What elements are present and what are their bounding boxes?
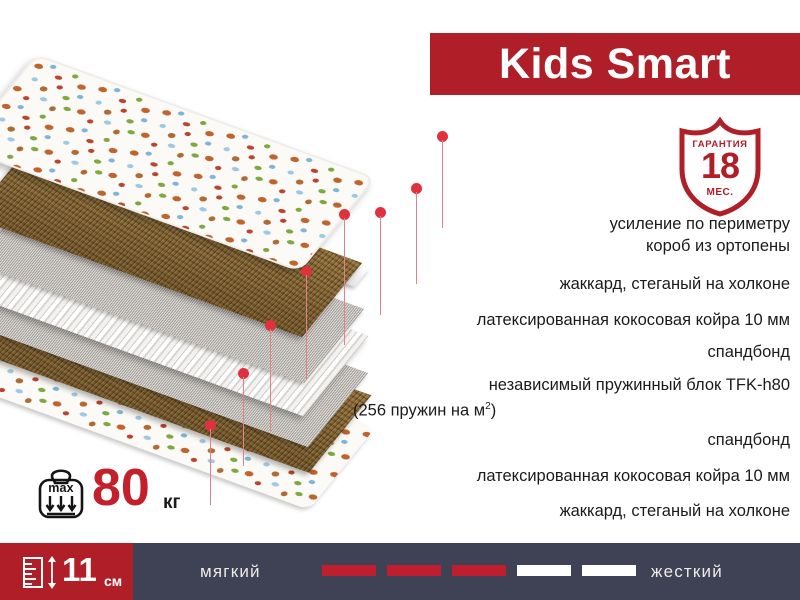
firmness-segment-5 <box>582 565 636 576</box>
firmness-segment-2 <box>387 565 441 576</box>
max-load-unit: кг <box>163 492 180 514</box>
height-arrow-icon <box>47 556 57 589</box>
leader-jacquard-bot <box>210 429 211 505</box>
max-load-value: 80 <box>92 462 150 514</box>
firmness-segment-4 <box>517 565 571 576</box>
max-load-icon-label: max <box>34 481 88 495</box>
label-coir-top: латексированная кокосовая койра 10 мм <box>330 310 790 331</box>
firmness-soft-label: мягкий <box>200 562 261 582</box>
leader-spring-block <box>306 275 307 379</box>
warranty-badge: ГАРАНТИЯ 18 МЕС. <box>672 117 768 217</box>
leader-spunbond-bot <box>270 329 271 431</box>
infographic-canvas: Kids Smart ГАРАНТИЯ 18 МЕС. <box>0 0 800 600</box>
label-jacquard-bottom: жаккард, стеганый на холконе <box>330 501 790 522</box>
warranty-value: 18 <box>672 148 768 184</box>
label-jacquard-top: жаккард, стеганый на холконе <box>330 274 790 295</box>
page-title: Kids Smart <box>499 43 731 86</box>
firmness-segment-1 <box>322 565 376 576</box>
max-load-badge: max <box>34 463 88 521</box>
warranty-unit: МЕС. <box>672 187 768 198</box>
label-spunbond-top: спандбонд <box>330 342 790 363</box>
label-perimeter: усиление по периметру короб из ортопены <box>330 213 790 257</box>
firmness-hard-label: жесткий <box>651 562 723 582</box>
label-spring-block: независимый пружинный блок TFK-h80 <box>300 375 790 396</box>
height-value: 11 <box>62 553 97 586</box>
leader-coir-bot <box>243 377 244 466</box>
product-title-banner: Kids Smart <box>430 33 800 95</box>
firmness-segment-3 <box>452 565 506 576</box>
label-coir-bottom: латексированная кокосовая койра 10 мм <box>330 466 790 487</box>
label-spunbond-bottom: спандбонд <box>330 430 790 451</box>
label-spring-block-count: (256 пружин на м2) <box>300 396 790 422</box>
ruler-icon <box>23 557 43 588</box>
height-unit: см <box>104 573 122 589</box>
